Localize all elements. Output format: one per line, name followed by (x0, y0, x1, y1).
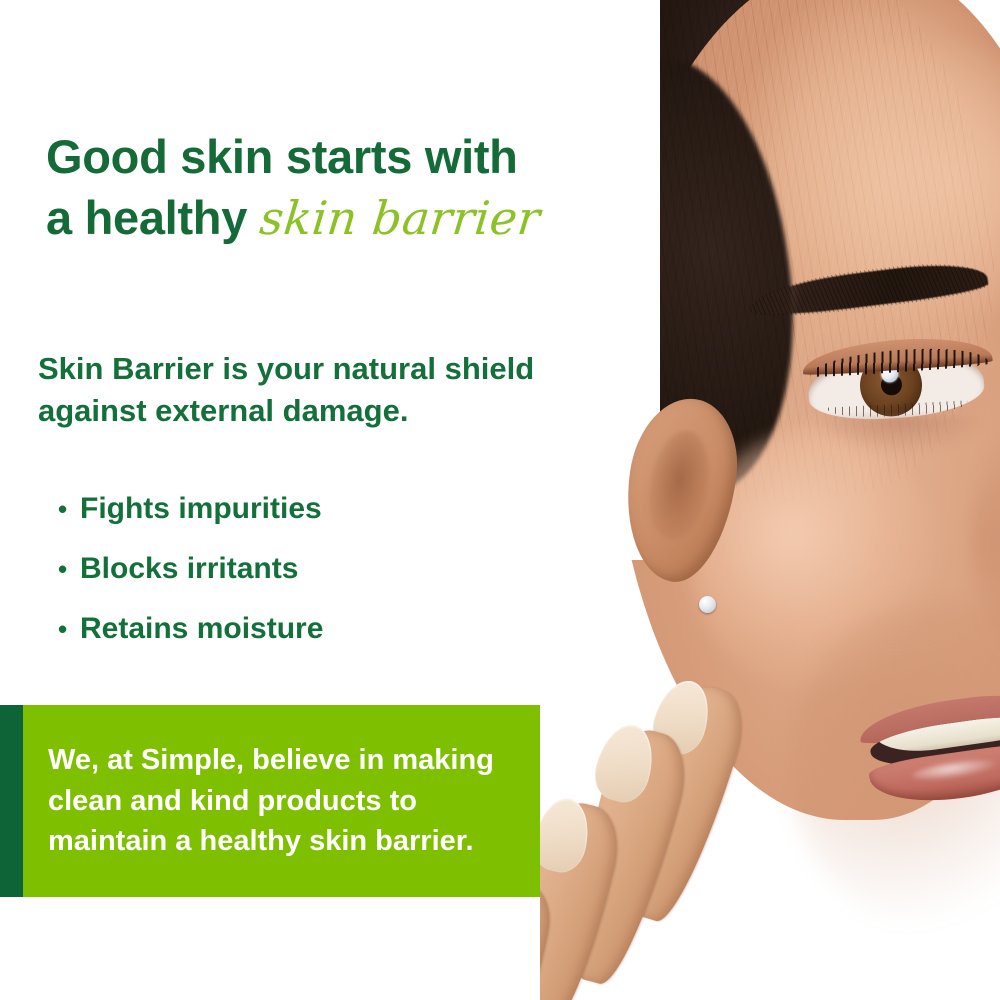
list-item-label: Retains moisture (80, 612, 323, 646)
headline-script-accent: skin barrier (257, 189, 543, 249)
headline-line-2: a healthy skin barrier (46, 187, 626, 249)
bullet-dot-icon: • (58, 616, 80, 642)
banner-text: We, at Simple, believe in making clean a… (48, 740, 608, 862)
list-item-label: Fights impurities (80, 492, 322, 526)
skincare-ad-banner: We, at Simple, believe in making clean a… (0, 0, 1000, 1000)
banner-line-3: maintain a healthy skin barrier. (48, 821, 608, 862)
list-item: • Blocks irritants (58, 552, 538, 586)
benefit-list: • Fights impurities • Blocks irritants •… (58, 492, 538, 672)
list-item: • Fights impurities (58, 492, 538, 526)
headline-line-1: Good skin starts with (46, 126, 626, 187)
bullet-dot-icon: • (58, 496, 80, 522)
pearl-earring (699, 596, 716, 613)
subheading-line-1: Skin Barrier is your natural shield (38, 348, 598, 390)
banner-line-2: clean and kind products to (48, 781, 608, 822)
headline-line-2-plain: a healthy (46, 191, 247, 244)
banner-line-1: We, at Simple, believe in making (48, 740, 608, 781)
list-item-label: Blocks irritants (80, 552, 298, 586)
subheading: Skin Barrier is your natural shield agai… (38, 348, 598, 432)
list-item: • Retains moisture (58, 612, 538, 646)
page-title: Good skin starts with a healthy skin bar… (46, 126, 626, 249)
bullet-dot-icon: • (58, 556, 80, 582)
subheading-line-2: against external damage. (38, 390, 598, 432)
